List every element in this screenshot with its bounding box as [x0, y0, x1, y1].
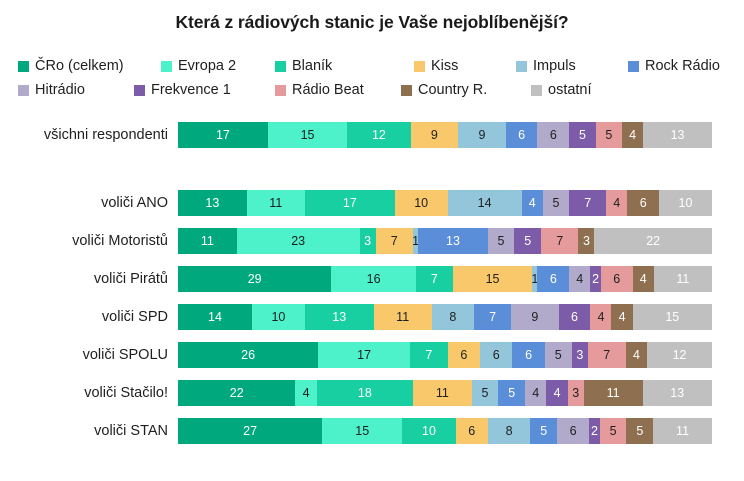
- bar-segment: 6: [537, 266, 569, 292]
- bar-segment-value: 7: [425, 349, 432, 362]
- bar-segment-value: 7: [431, 273, 438, 286]
- legend-row: ČRo (celkem)Evropa 2BlaníkKissImpulsRock…: [18, 54, 730, 78]
- bar-segment: 3: [578, 228, 594, 254]
- bar-segment-value: 8: [506, 425, 513, 438]
- bar-segment-value: 22: [646, 235, 660, 248]
- bar-segment-value: 11: [607, 387, 620, 400]
- bar-segment-value: 4: [529, 197, 536, 210]
- bar-segment: 6: [448, 342, 480, 368]
- bar-segment: 4: [626, 342, 648, 368]
- bar-segment: 5: [514, 228, 541, 254]
- bar-segment-value: 10: [271, 311, 285, 324]
- legend-item-rock-r-dio[interactable]: Rock Rádio: [628, 54, 720, 78]
- bar-segment: 4: [569, 266, 590, 292]
- bar-segment: 9: [458, 122, 506, 148]
- bar-row: voliči SPOLU26177666537412: [0, 342, 744, 368]
- bar-segment: 17: [178, 122, 268, 148]
- bar-segment-value: 7: [489, 311, 496, 324]
- legend-swatch-icon: [401, 85, 412, 96]
- bar-segment-value: 9: [479, 129, 486, 142]
- bar-segment: 29: [178, 266, 331, 292]
- legend-item-hitr-dio[interactable]: Hitrádio: [18, 78, 85, 102]
- bar-segment-value: 10: [422, 425, 436, 438]
- legend-item-ostatn[interactable]: ostatní: [531, 78, 592, 102]
- bar-segment-value: 4: [629, 129, 636, 142]
- bar-segment: 13: [418, 228, 487, 254]
- bar-segment: 11: [178, 228, 237, 254]
- bar-segment: 6: [601, 266, 633, 292]
- bar-segment-value: 2: [591, 425, 598, 438]
- bar-segment-value: 18: [358, 387, 372, 400]
- bar-segment-value: 11: [676, 273, 689, 286]
- legend-swatch-icon: [275, 61, 286, 72]
- legend-swatch-icon: [531, 85, 542, 96]
- bar-segment: 10: [252, 304, 305, 330]
- bar-segment-value: 13: [446, 235, 460, 248]
- bar-segment: 15: [633, 304, 712, 330]
- bar-segment-value: 3: [364, 235, 371, 248]
- bar-segment: 7: [588, 342, 626, 368]
- legend-label: Hitrádio: [35, 83, 85, 98]
- bar-segment-value: 11: [436, 387, 449, 400]
- legend-item-blan-k[interactable]: Blaník: [275, 54, 332, 78]
- bar-row: všichni respondenti171512996655413: [0, 122, 744, 148]
- legend-item-evropa-2[interactable]: Evropa 2: [161, 54, 236, 78]
- legend-label: Evropa 2: [178, 59, 236, 74]
- bar-segment: 7: [569, 190, 606, 216]
- category-label: voliči ANO: [0, 195, 178, 211]
- legend-item-r-dio-beat[interactable]: Rádio Beat: [275, 78, 364, 102]
- bar-segment: 15: [322, 418, 402, 444]
- bar-segment-value: 15: [301, 129, 315, 142]
- bar-segment: 4: [525, 380, 546, 406]
- bar-segment: 22: [594, 228, 711, 254]
- bar-segment-value: 11: [269, 197, 282, 210]
- bar-segment-value: 4: [532, 387, 539, 400]
- bar-segment-value: 7: [584, 197, 591, 210]
- bar-segment-value: 15: [665, 311, 679, 324]
- chart-legend: ČRo (celkem)Evropa 2BlaníkKissImpulsRock…: [18, 54, 730, 102]
- legend-label: ČRo (celkem): [35, 59, 124, 74]
- bar-segment-value: 15: [355, 425, 369, 438]
- bar-segment: 3: [568, 380, 584, 406]
- bar-segment: 26: [178, 342, 318, 368]
- bar-segment-value: 5: [636, 425, 643, 438]
- bar-segment-value: 5: [508, 387, 515, 400]
- bar-segment-value: 11: [396, 311, 409, 324]
- bar-segment-value: 6: [640, 197, 647, 210]
- legend-label: Rádio Beat: [292, 83, 364, 98]
- bar-segment-value: 7: [391, 235, 398, 248]
- bar-segment-value: 6: [550, 273, 557, 286]
- bar-segment: 23: [237, 228, 360, 254]
- bar-segment-value: 22: [230, 387, 244, 400]
- bar-segment: 14: [178, 304, 252, 330]
- bar-segment-value: 3: [583, 235, 590, 248]
- stacked-bar: 291671516426411: [178, 266, 712, 292]
- bar-segment: 11: [413, 380, 472, 406]
- bar-segment: 8: [432, 304, 474, 330]
- bar-segment: 3: [360, 228, 376, 254]
- bar-segment: 5: [569, 122, 595, 148]
- legend-swatch-icon: [18, 61, 29, 72]
- bar-segment: 14: [448, 190, 522, 216]
- bar-segment-value: 6: [613, 273, 620, 286]
- category-label: voliči Motoristů: [0, 233, 178, 249]
- bar-segment-value: 2: [592, 273, 599, 286]
- bar-segment: 5: [596, 122, 622, 148]
- bar-segment: 5: [472, 380, 499, 406]
- category-label: všichni respondenti: [0, 127, 178, 143]
- stacked-bar: 171512996655413: [178, 122, 712, 148]
- bar-segment: 4: [546, 380, 567, 406]
- bar-segment-value: 17: [216, 129, 230, 142]
- bar-segment-value: 6: [525, 349, 532, 362]
- bar-segment-value: 6: [571, 311, 578, 324]
- bar-segment-value: 3: [572, 387, 579, 400]
- bar-segment-value: 4: [640, 273, 647, 286]
- bar-segment-value: 27: [243, 425, 257, 438]
- bar-segment: 6: [512, 342, 544, 368]
- bar-segment: 4: [522, 190, 543, 216]
- bar-segment: 7: [474, 304, 511, 330]
- bar-segment-value: 5: [482, 387, 489, 400]
- stacked-bar: 2241811554431113: [178, 380, 712, 406]
- bar-segment: 5: [626, 418, 653, 444]
- bar-segment: 10: [402, 418, 455, 444]
- bar-segment: 7: [376, 228, 413, 254]
- bar-segment: 15: [268, 122, 347, 148]
- bar-segment-value: 6: [460, 349, 467, 362]
- bar-segment-value: 4: [576, 273, 583, 286]
- bar-segment-value: 12: [673, 349, 687, 362]
- legend-item-ro-celkem[interactable]: ČRo (celkem): [18, 54, 124, 78]
- bar-segment: 16: [331, 266, 416, 292]
- bar-segment-value: 12: [372, 129, 386, 142]
- legend-row: HitrádioFrekvence 1Rádio BeatCountry R.o…: [18, 78, 730, 102]
- legend-label: Frekvence 1: [151, 83, 231, 98]
- bar-segment: 6: [557, 418, 589, 444]
- bar-segment-value: 7: [603, 349, 610, 362]
- chart-title: Která z rádiových stanic je Vaše nejoblí…: [0, 12, 744, 33]
- bar-row: voliči ANO13111710144574610: [0, 190, 744, 216]
- bar-segment: 11: [653, 418, 712, 444]
- bar-segment: 8: [488, 418, 531, 444]
- stacked-bar: 26177666537412: [178, 342, 712, 368]
- bar-segment-value: 6: [570, 425, 577, 438]
- bar-segment-value: 26: [241, 349, 255, 362]
- bar-segment-value: 11: [201, 235, 214, 248]
- bar-segment-value: 4: [303, 387, 310, 400]
- bar-segment: 4: [622, 122, 643, 148]
- bar-segment: 3: [572, 342, 588, 368]
- bar-segment: 11: [247, 190, 305, 216]
- category-label: voliči STAN: [0, 423, 178, 439]
- bar-segment: 4: [611, 304, 632, 330]
- legend-swatch-icon: [134, 85, 145, 96]
- bar-segment-value: 5: [605, 129, 612, 142]
- bar-segment: 15: [453, 266, 532, 292]
- bar-segment: 2: [589, 418, 600, 444]
- bar-row: voliči Pirátů291671516426411: [0, 266, 744, 292]
- bar-segment: 10: [395, 190, 448, 216]
- legend-swatch-icon: [275, 85, 286, 96]
- bar-segment-value: 17: [357, 349, 371, 362]
- bar-segment-value: 13: [332, 311, 346, 324]
- bar-segment-value: 16: [367, 273, 381, 286]
- stacked-bar: 112337113557322: [178, 228, 712, 254]
- bar-segment: 4: [295, 380, 316, 406]
- bar-segment: 12: [347, 122, 410, 148]
- bar-segment-value: 13: [671, 129, 685, 142]
- bar-segment-value: 11: [676, 425, 689, 438]
- legend-label: Kiss: [431, 59, 458, 74]
- bar-segment: 5: [543, 190, 569, 216]
- bar-segment-value: 3: [576, 349, 583, 362]
- bar-segment-value: 15: [486, 273, 500, 286]
- legend-swatch-icon: [161, 61, 172, 72]
- chart-plot-area: všichni respondenti171512996655413voliči…: [0, 112, 744, 472]
- bar-segment: 6: [480, 342, 512, 368]
- bar-segment-value: 5: [524, 235, 531, 248]
- bar-segment-value: 5: [498, 235, 505, 248]
- bar-segment: 13: [643, 122, 712, 148]
- bar-segment-value: 13: [205, 197, 219, 210]
- bar-segment-value: 6: [550, 129, 557, 142]
- bar-segment: 13: [178, 190, 247, 216]
- bar-segment-value: 10: [414, 197, 428, 210]
- category-label: voliči SPOLU: [0, 347, 178, 363]
- category-label: voliči Stačilo!: [0, 385, 178, 401]
- bar-segment: 9: [411, 122, 459, 148]
- bar-row: voliči Stačilo!2241811554431113: [0, 380, 744, 406]
- bar-segment: 9: [511, 304, 559, 330]
- bar-segment-value: 6: [493, 349, 500, 362]
- bar-segment: 6: [537, 122, 569, 148]
- stacked-bar: 271510685625511: [178, 418, 712, 444]
- stacked-bar: 1410131187964415: [178, 304, 712, 330]
- bar-segment-value: 8: [449, 311, 456, 324]
- legend-swatch-icon: [18, 85, 29, 96]
- legend-swatch-icon: [628, 61, 639, 72]
- bar-segment: 13: [305, 304, 374, 330]
- bar-segment-value: 29: [248, 273, 262, 286]
- bar-segment-value: 4: [554, 387, 561, 400]
- bar-segment: 6: [456, 418, 488, 444]
- bar-segment-value: 6: [518, 129, 525, 142]
- bar-segment: 4: [590, 304, 611, 330]
- bar-row: voliči SPD1410131187964415: [0, 304, 744, 330]
- legend-item-frekvence-1[interactable]: Frekvence 1: [134, 78, 231, 102]
- category-label: voliči Pirátů: [0, 271, 178, 287]
- legend-label: Blaník: [292, 59, 332, 74]
- bar-segment: 12: [647, 342, 712, 368]
- legend-item-impuls[interactable]: Impuls: [516, 54, 576, 78]
- bar-segment: 6: [559, 304, 591, 330]
- bar-segment-value: 14: [478, 197, 492, 210]
- bar-segment: 7: [541, 228, 578, 254]
- bar-segment-value: 14: [208, 311, 222, 324]
- bar-segment-value: 7: [556, 235, 563, 248]
- bar-row: voliči STAN271510685625511: [0, 418, 744, 444]
- bar-segment: 5: [545, 342, 572, 368]
- stacked-bar: 13111710144574610: [178, 190, 712, 216]
- bar-segment: 4: [633, 266, 654, 292]
- bar-segment: 7: [416, 266, 453, 292]
- bar-segment: 5: [600, 418, 627, 444]
- category-label: voliči SPD: [0, 309, 178, 325]
- bar-segment-value: 5: [553, 197, 560, 210]
- bar-segment: 11: [374, 304, 432, 330]
- legend-item-kiss[interactable]: Kiss: [414, 54, 458, 78]
- bar-segment: 2: [590, 266, 601, 292]
- legend-swatch-icon: [414, 61, 425, 72]
- bar-segment-value: 5: [555, 349, 562, 362]
- bar-segment-value: 5: [610, 425, 617, 438]
- bar-segment-value: 5: [540, 425, 547, 438]
- bar-segment-value: 4: [633, 349, 640, 362]
- bar-segment-value: 4: [597, 311, 604, 324]
- bar-segment-value: 9: [531, 311, 538, 324]
- bar-segment: 17: [305, 190, 395, 216]
- bar-segment: 22: [178, 380, 295, 406]
- bar-segment-value: 5: [579, 129, 586, 142]
- stacked-bar-chart: Která z rádiových stanic je Vaše nejoblí…: [0, 0, 744, 481]
- bar-row: voliči Motoristů112337113557322: [0, 228, 744, 254]
- bar-segment-value: 9: [431, 129, 438, 142]
- legend-label: ostatní: [548, 83, 592, 98]
- legend-swatch-icon: [516, 61, 527, 72]
- bar-segment-value: 10: [679, 197, 693, 210]
- bar-segment: 10: [659, 190, 712, 216]
- bar-segment-value: 4: [619, 311, 626, 324]
- legend-label: Country R.: [418, 83, 487, 98]
- bar-segment: 6: [506, 122, 538, 148]
- bar-segment: 5: [498, 380, 525, 406]
- bar-segment: 5: [488, 228, 515, 254]
- bar-segment-value: 17: [343, 197, 357, 210]
- bar-segment: 7: [410, 342, 448, 368]
- bar-segment: 13: [643, 380, 712, 406]
- bar-segment: 18: [317, 380, 413, 406]
- bar-segment: 11: [654, 266, 712, 292]
- legend-label: Impuls: [533, 59, 576, 74]
- legend-item-country-r[interactable]: Country R.: [401, 78, 487, 102]
- bar-segment: 17: [318, 342, 410, 368]
- bar-segment-value: 6: [468, 425, 475, 438]
- bar-segment-value: 13: [670, 387, 684, 400]
- legend-label: Rock Rádio: [645, 59, 720, 74]
- bar-segment-value: 23: [291, 235, 305, 248]
- bar-segment: 4: [606, 190, 627, 216]
- bar-segment: 11: [584, 380, 643, 406]
- bar-segment: 27: [178, 418, 322, 444]
- bar-segment: 5: [530, 418, 557, 444]
- bar-segment: 6: [627, 190, 659, 216]
- bar-segment-value: 4: [613, 197, 620, 210]
